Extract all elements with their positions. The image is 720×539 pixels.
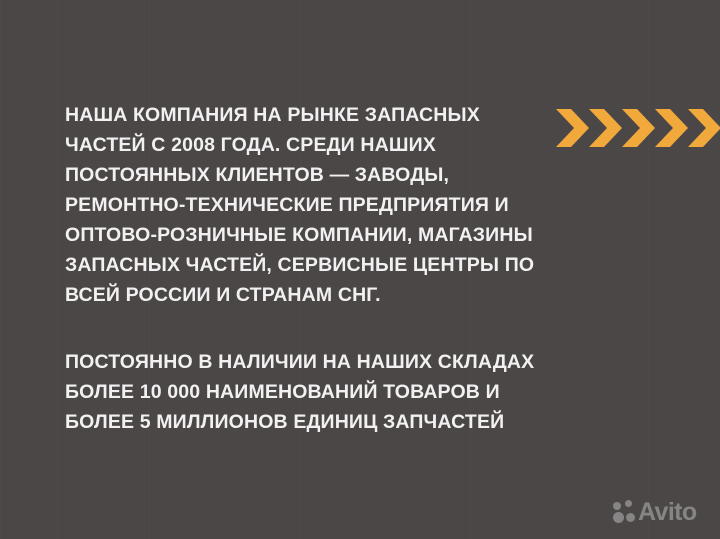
avito-dot-bottom-right [626, 513, 635, 522]
avito-dot-top-right [625, 500, 632, 507]
avito-dot-bottom-left [613, 512, 624, 523]
paragraph-stock-availability: ПОСТОЯННО В НАЛИЧИИ НА НАШИХ СКЛАДАХ БОЛ… [65, 347, 534, 437]
avito-wordmark: Avito [638, 500, 697, 525]
text-line: ОПТОВО-РОЗНИЧНЫЕ КОМПАНИИ, МАГАЗИНЫ [65, 220, 534, 250]
text-line: ЗАПАСНЫХ ЧАСТЕЙ, СЕРВИСНЫЕ ЦЕНТРЫ ПО [65, 250, 534, 280]
chevrons-right-icon [556, 109, 720, 147]
text-line: БОЛЕЕ 5 МИЛЛИОНОВ ЕДИНИЦ ЗАПЧАСТЕЙ [65, 407, 534, 437]
text-line: ЧАСТЕЙ С 2008 ГОДА. СРЕДИ НАШИХ [65, 130, 534, 160]
text-line: БОЛЕЕ 10 000 НАИМЕНОВАНИЙ ТОВАРОВ И [65, 377, 534, 407]
text-line: НАША КОМПАНИЯ НА РЫНКЕ ЗАПАСНЫХ [65, 100, 534, 130]
text-line: ПОСТОЯННЫХ КЛИЕНТОВ — ЗАВОДЫ, [65, 160, 534, 190]
avito-watermark: Avito [613, 497, 707, 527]
paragraph-company-history: НАША КОМПАНИЯ НА РЫНКЕ ЗАПАСНЫХ ЧАСТЕЙ С… [65, 100, 534, 310]
avito-dot-top-left [613, 502, 621, 510]
text-line: ВСЕЙ РОССИИ И СТРАНАМ СНГ. [65, 280, 534, 310]
text-line: РЕМОНТНО-ТЕХНИЧЕСКИЕ ПРЕДПРИЯТИЯ И [65, 190, 534, 220]
avito-dots-icon [613, 500, 636, 524]
text-line: ПОСТОЯННО В НАЛИЧИИ НА НАШИХ СКЛАДАХ [65, 347, 534, 377]
promo-banner: НАША КОМПАНИЯ НА РЫНКЕ ЗАПАСНЫХ ЧАСТЕЙ С… [0, 0, 720, 539]
